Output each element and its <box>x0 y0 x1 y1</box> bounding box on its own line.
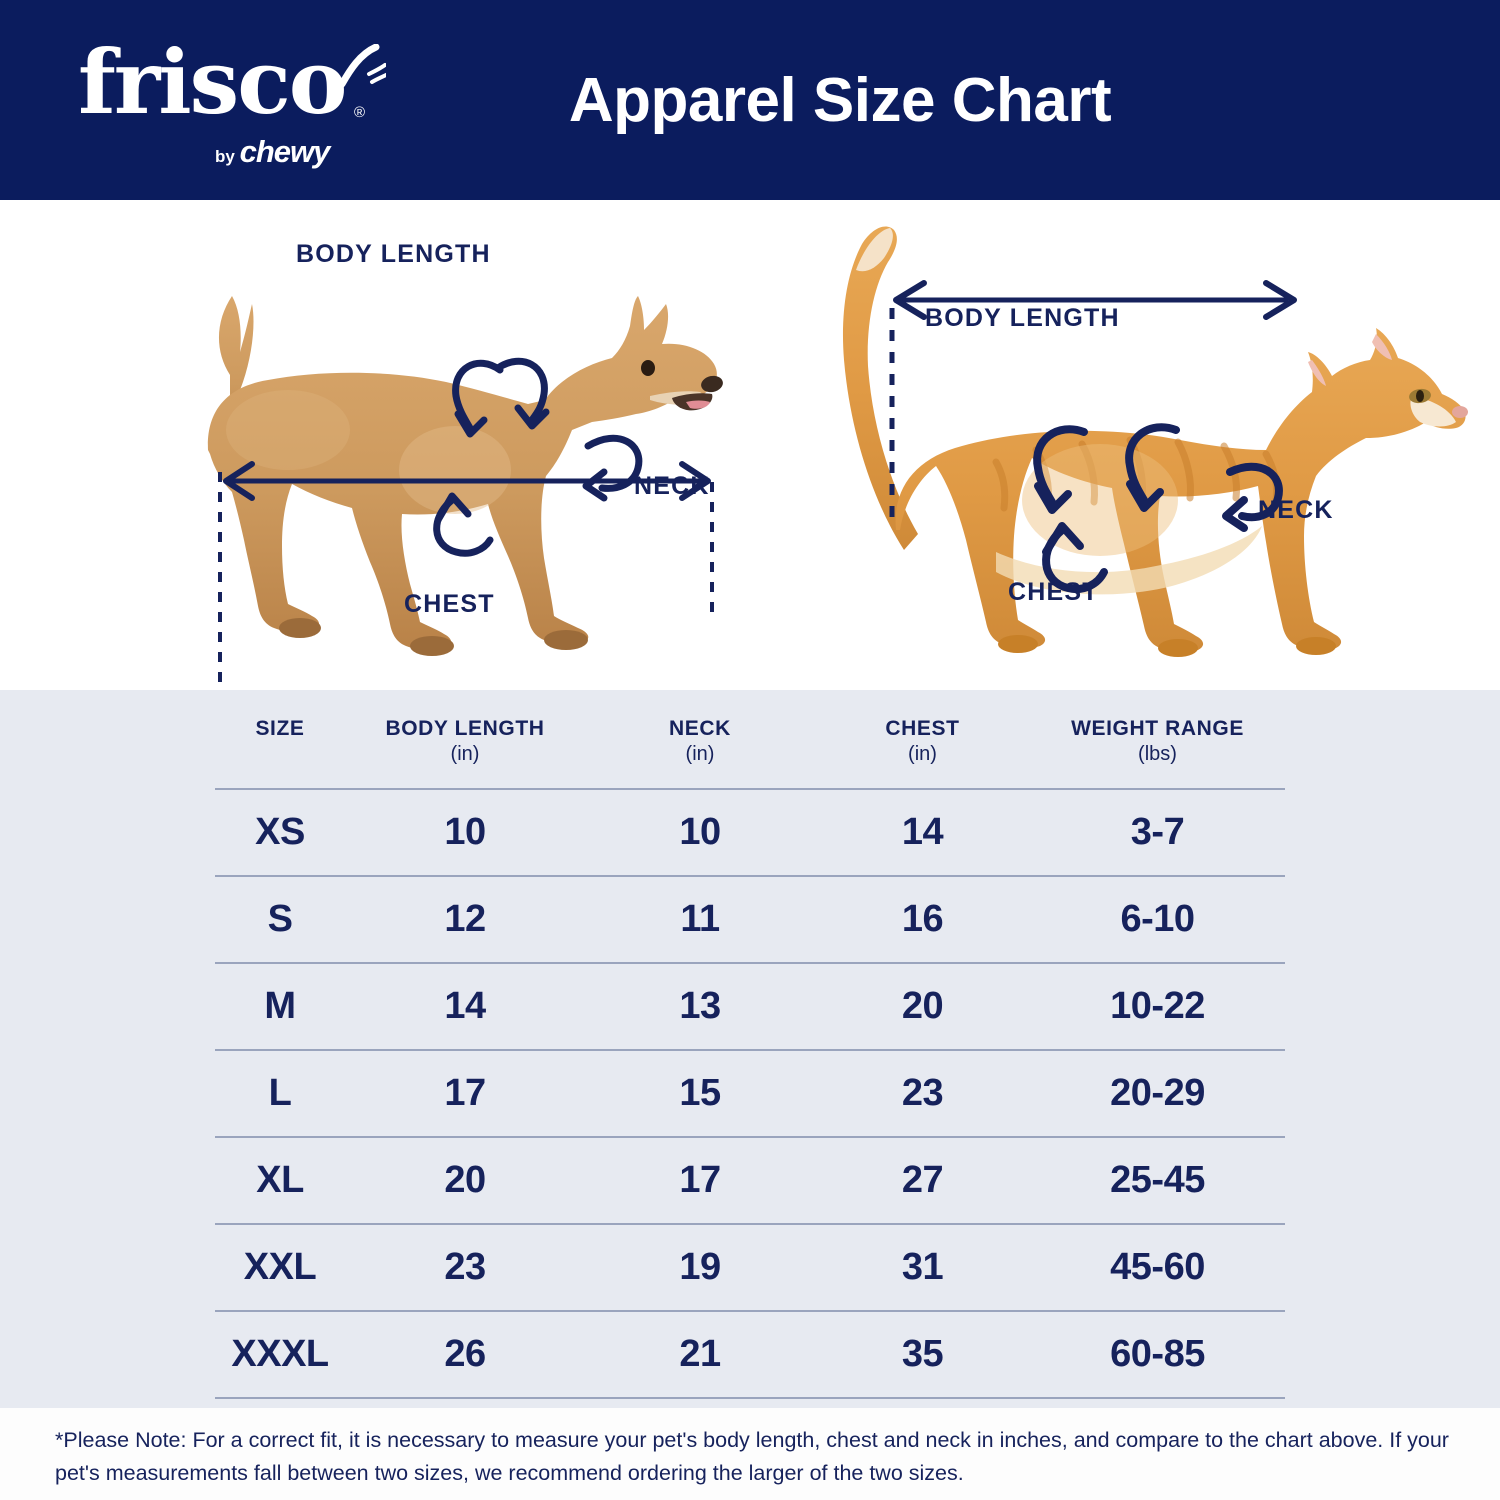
cell-chest: 14 <box>815 789 1030 876</box>
cell-weight: 25-45 <box>1030 1137 1285 1224</box>
dog-neck-label: NECK <box>634 472 710 501</box>
cell-body-length: 23 <box>345 1224 585 1311</box>
cell-neck: 15 <box>585 1050 815 1137</box>
cell-neck: 11 <box>585 876 815 963</box>
cell-neck: 17 <box>585 1137 815 1224</box>
column-header-size: SIZE <box>215 702 345 789</box>
column-header-neck: NECK (in) <box>585 702 815 789</box>
cell-chest: 27 <box>815 1137 1030 1224</box>
column-header-body-length-unit: (in) <box>345 742 585 766</box>
cell-weight: 10-22 <box>1030 963 1285 1050</box>
size-chart-page: frisco ® by chewy Apparel Size Chart <box>0 0 1500 1500</box>
illustration-band: BODY LENGTH NECK CHEST <box>0 200 1500 690</box>
size-table-section: SIZE BODY LENGTH (in) NECK (in) CHEST (i… <box>0 690 1500 1408</box>
column-header-weight-range: WEIGHT RANGE (lbs) <box>1030 702 1285 789</box>
cell-neck: 10 <box>585 789 815 876</box>
cell-chest: 16 <box>815 876 1030 963</box>
column-header-neck-label: NECK <box>669 717 731 740</box>
cell-size: XXXL <box>215 1311 345 1398</box>
cat-chest-label: CHEST <box>1008 578 1099 607</box>
cell-chest: 31 <box>815 1224 1030 1311</box>
cell-body-length: 20 <box>345 1137 585 1224</box>
cell-size: XS <box>215 789 345 876</box>
column-header-chest: CHEST (in) <box>815 702 1030 789</box>
header-bar: frisco ® by chewy Apparel Size Chart <box>0 0 1500 200</box>
cell-size: L <box>215 1050 345 1137</box>
cat-body-length-label: BODY LENGTH <box>925 304 1120 333</box>
size-table: SIZE BODY LENGTH (in) NECK (in) CHEST (i… <box>215 702 1285 1399</box>
cell-body-length: 14 <box>345 963 585 1050</box>
column-header-body-length-label: BODY LENGTH <box>385 717 544 740</box>
cell-body-length: 26 <box>345 1311 585 1398</box>
cell-body-length: 12 <box>345 876 585 963</box>
cell-size: XL <box>215 1137 345 1224</box>
column-header-body-length: BODY LENGTH (in) <box>345 702 585 789</box>
table-row: XXL 23 19 31 45-60 <box>215 1224 1285 1311</box>
cell-size: XXL <box>215 1224 345 1311</box>
footnote-text: *Please Note: For a correct fit, it is n… <box>55 1424 1455 1489</box>
table-row: XXXL 26 21 35 60-85 <box>215 1311 1285 1398</box>
cat-illustration <box>800 200 1500 690</box>
cell-weight: 20-29 <box>1030 1050 1285 1137</box>
column-header-chest-unit: (in) <box>815 742 1030 766</box>
table-row: M 14 13 20 10-22 <box>215 963 1285 1050</box>
cell-neck: 13 <box>585 963 815 1050</box>
table-body: XS 10 10 14 3-7 S 12 11 16 6-10 M 14 13 <box>215 789 1285 1398</box>
cell-chest: 23 <box>815 1050 1030 1137</box>
cell-weight: 3-7 <box>1030 789 1285 876</box>
dog-chest-label: CHEST <box>404 590 495 619</box>
cell-weight: 45-60 <box>1030 1224 1285 1311</box>
cat-neck-label: NECK <box>1258 496 1334 525</box>
page-title: Apparel Size Chart <box>0 0 1500 200</box>
dog-illustration <box>0 200 760 690</box>
cell-weight: 60-85 <box>1030 1311 1285 1398</box>
table-row: XS 10 10 14 3-7 <box>215 789 1285 876</box>
cell-size: S <box>215 876 345 963</box>
column-header-weight-range-label: WEIGHT RANGE <box>1071 717 1244 740</box>
cell-neck: 21 <box>585 1311 815 1398</box>
table-row: S 12 11 16 6-10 <box>215 876 1285 963</box>
table-row: L 17 15 23 20-29 <box>215 1050 1285 1137</box>
table-row: XL 20 17 27 25-45 <box>215 1137 1285 1224</box>
cell-chest: 20 <box>815 963 1030 1050</box>
cell-size: M <box>215 963 345 1050</box>
column-header-weight-range-unit: (lbs) <box>1030 742 1285 766</box>
column-header-chest-label: CHEST <box>885 717 959 740</box>
cell-body-length: 10 <box>345 789 585 876</box>
cell-neck: 19 <box>585 1224 815 1311</box>
cell-weight: 6-10 <box>1030 876 1285 963</box>
column-header-size-label: SIZE <box>255 717 304 740</box>
dog-body-length-label: BODY LENGTH <box>296 240 491 269</box>
cell-chest: 35 <box>815 1311 1030 1398</box>
table-header-row: SIZE BODY LENGTH (in) NECK (in) CHEST (i… <box>215 702 1285 789</box>
column-header-neck-unit: (in) <box>585 742 815 766</box>
cell-body-length: 17 <box>345 1050 585 1137</box>
